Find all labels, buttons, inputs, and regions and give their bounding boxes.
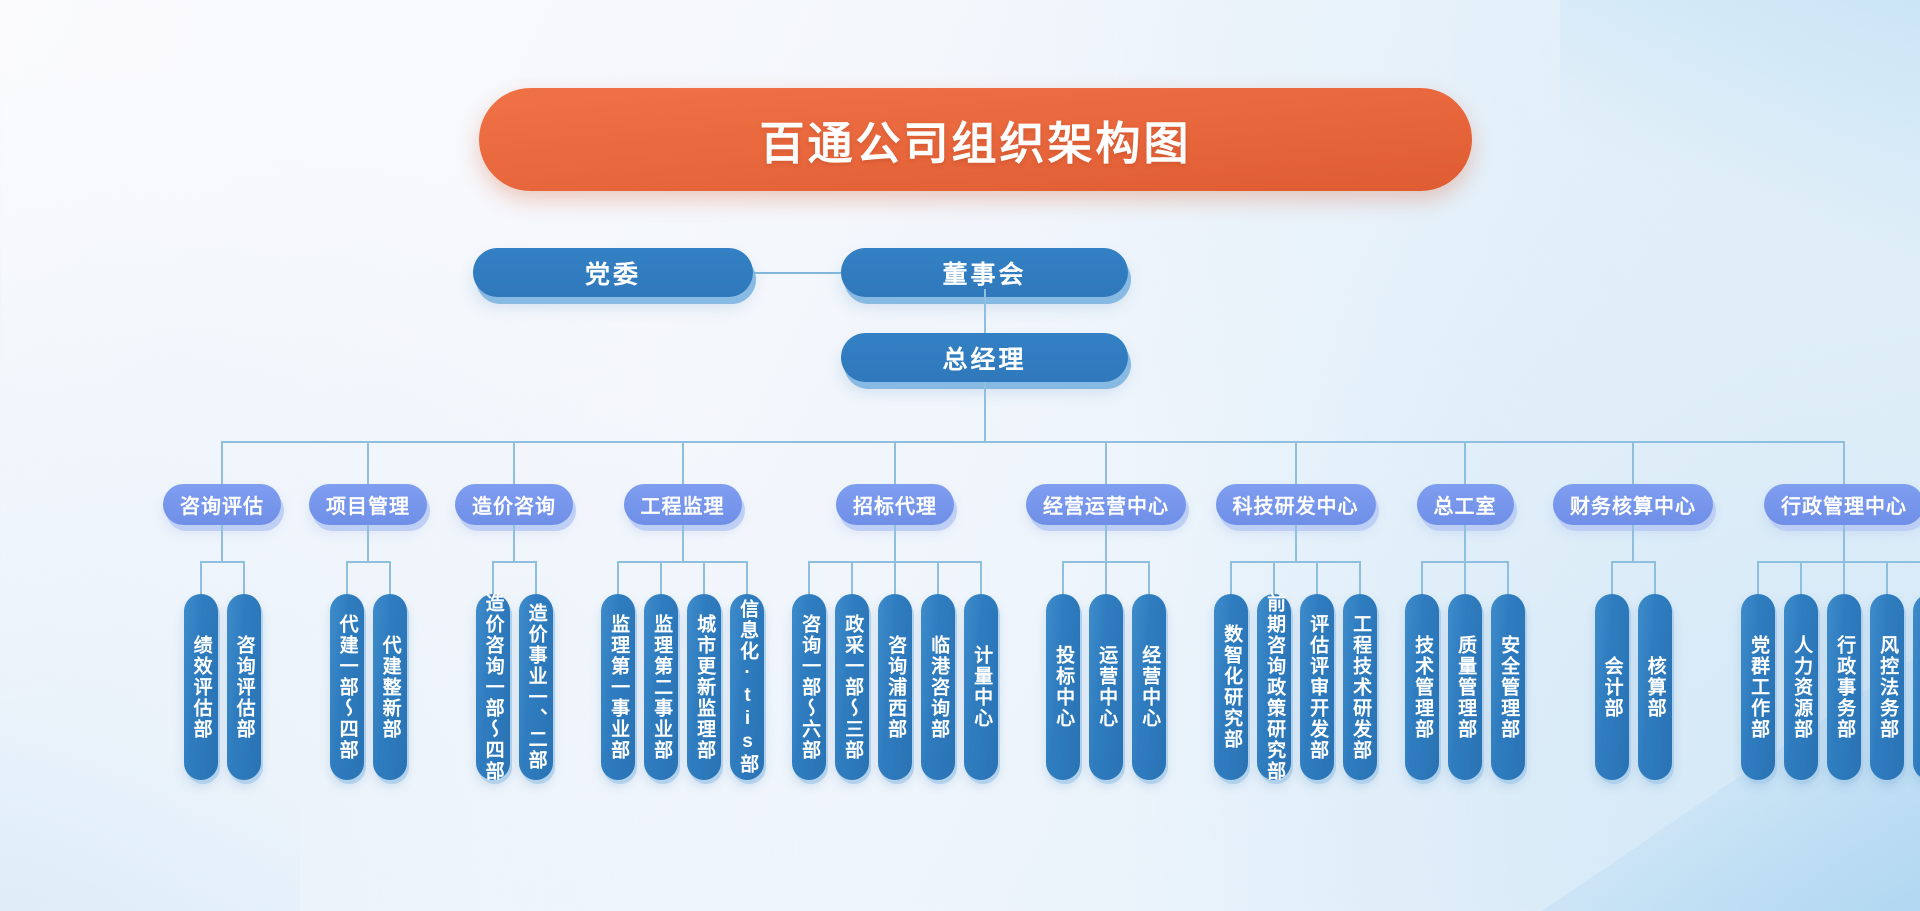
leaf-node-8-2[interactable]: 质量管理部 bbox=[1448, 594, 1482, 780]
connector-leaf-7-1 bbox=[1230, 561, 1232, 594]
connector-division-5-stem bbox=[894, 525, 896, 561]
node-general-manager[interactable]: 总经理 bbox=[841, 333, 1128, 382]
leaf-node-8-1[interactable]: 技术管理部 bbox=[1405, 594, 1439, 780]
node-label: 代建整新部 bbox=[379, 635, 399, 740]
leaf-node-1-2[interactable]: 咨询评估部 bbox=[227, 594, 261, 780]
node-label: 党群工作部 bbox=[1748, 635, 1768, 740]
division-node-8[interactable]: 总工室 bbox=[1417, 484, 1514, 525]
node-label: 咨询评估部 bbox=[233, 635, 253, 740]
node-label: 工程技术研发部 bbox=[1350, 614, 1370, 761]
node-label: 行政事务部 bbox=[1834, 635, 1854, 740]
connector-trunk-to-division-6 bbox=[1105, 441, 1107, 484]
leaf-node-8-3[interactable]: 安全管理部 bbox=[1491, 594, 1525, 780]
node-label: 运营中心 bbox=[1096, 645, 1116, 729]
connector-subbus-2 bbox=[347, 561, 390, 563]
chart-title-banner: 百通公司组织架构图 bbox=[479, 88, 1472, 191]
connector-leaf-7-2 bbox=[1273, 561, 1275, 594]
connector-trunk-to-division-7 bbox=[1295, 441, 1297, 484]
connector-trunk-to-division-1 bbox=[221, 441, 223, 484]
connector-division-2-stem bbox=[367, 525, 369, 561]
connector-subbus-6 bbox=[1063, 561, 1149, 563]
node-label: 党委 bbox=[585, 255, 641, 291]
connector-division-4-stem bbox=[682, 525, 684, 561]
leaf-node-10-1[interactable]: 党群工作部 bbox=[1741, 594, 1775, 780]
connector-gm-to-trunk bbox=[984, 382, 986, 442]
node-label: 经营中心 bbox=[1139, 645, 1159, 729]
node-label: 代建一部～四部 bbox=[336, 614, 356, 761]
leaf-node-7-2[interactable]: 前期咨询政策研究部 bbox=[1257, 594, 1291, 780]
node-party-committee[interactable]: 党委 bbox=[473, 248, 753, 297]
connector-division-6-stem bbox=[1105, 525, 1107, 561]
connector-leaf-4-1 bbox=[617, 561, 619, 594]
leaf-node-4-1[interactable]: 监理第一事业部 bbox=[601, 594, 635, 780]
connector-subbus-10 bbox=[1758, 561, 1920, 563]
connector-division-1-stem bbox=[221, 525, 223, 561]
leaf-node-10-5[interactable]: 数字化信息部 bbox=[1913, 594, 1920, 780]
node-label: 信息化·tis部 bbox=[737, 599, 757, 775]
division-node-5[interactable]: 招标代理 bbox=[836, 484, 954, 525]
leaf-node-10-3[interactable]: 行政事务部 bbox=[1827, 594, 1861, 780]
node-label: 监理第二事业部 bbox=[651, 614, 671, 761]
connector-leaf-1-1 bbox=[200, 561, 202, 594]
leaf-node-1-1[interactable]: 绩效评估部 bbox=[184, 594, 218, 780]
connector-leaf-10-3 bbox=[1843, 561, 1845, 594]
node-label: 核算部 bbox=[1644, 656, 1664, 719]
connector-leaf-5-1 bbox=[808, 561, 810, 594]
connector-subbus-7 bbox=[1231, 561, 1360, 563]
connector-leaf-2-1 bbox=[346, 561, 348, 594]
node-label: 总经理 bbox=[942, 340, 1026, 376]
connector-leaf-1-2 bbox=[243, 561, 245, 594]
leaf-node-5-2[interactable]: 政采一部～三部 bbox=[835, 594, 869, 780]
node-label: 科技研发中心 bbox=[1233, 490, 1359, 519]
node-label: 数智化研究部 bbox=[1221, 624, 1241, 750]
connector-leaf-3-1 bbox=[492, 561, 494, 594]
node-label: 造价事业一、二部 bbox=[525, 603, 545, 771]
leaf-node-9-2[interactable]: 核算部 bbox=[1638, 594, 1672, 780]
connector-leaf-10-2 bbox=[1800, 561, 1802, 594]
node-label: 工程监理 bbox=[641, 490, 725, 519]
node-label: 人力资源部 bbox=[1791, 635, 1811, 740]
connector-division-3-stem bbox=[513, 525, 515, 561]
connector-leaf-2-2 bbox=[389, 561, 391, 594]
leaf-node-10-4[interactable]: 风控法务部 bbox=[1870, 594, 1904, 780]
node-label: 造价咨询 bbox=[472, 490, 556, 519]
connector-leaf-4-4 bbox=[746, 561, 748, 594]
node-label: 技术管理部 bbox=[1412, 635, 1432, 740]
connector-party-to-board bbox=[753, 272, 841, 274]
connector-leaf-8-2 bbox=[1464, 561, 1466, 594]
connector-division-8-stem bbox=[1464, 525, 1466, 561]
node-label: 咨询浦西部 bbox=[885, 635, 905, 740]
connector-subbus-1 bbox=[201, 561, 244, 563]
leaf-node-5-1[interactable]: 咨询一部～六部 bbox=[792, 594, 826, 780]
connector-leaf-8-1 bbox=[1421, 561, 1423, 594]
connector-leaf-10-4 bbox=[1886, 561, 1888, 594]
connector-subbus-4 bbox=[618, 561, 747, 563]
connector-subbus-5 bbox=[809, 561, 981, 563]
division-node-1[interactable]: 咨询评估 bbox=[163, 484, 281, 525]
node-label: 临港咨询部 bbox=[928, 635, 948, 740]
leaf-node-4-2[interactable]: 监理第二事业部 bbox=[644, 594, 678, 780]
connector-board-to-gm bbox=[984, 289, 986, 333]
connector-leaf-3-2 bbox=[535, 561, 537, 594]
node-label: 经营运营中心 bbox=[1043, 490, 1169, 519]
org-chart-canvas: 百通公司组织架构图 党委 董事会 总经理 咨询评估绩效评估部咨询评估部项目管理代… bbox=[0, 0, 1920, 911]
leaf-node-5-4[interactable]: 临港咨询部 bbox=[921, 594, 955, 780]
connector-division-bus bbox=[222, 441, 1844, 443]
connector-leaf-9-1 bbox=[1611, 561, 1613, 594]
node-label: 咨询一部～六部 bbox=[799, 614, 819, 761]
node-label: 风控法务部 bbox=[1877, 635, 1897, 740]
division-node-2[interactable]: 项目管理 bbox=[309, 484, 427, 525]
node-label: 政采一部～三部 bbox=[842, 614, 862, 761]
leaf-node-2-2[interactable]: 代建整新部 bbox=[373, 594, 407, 780]
connector-leaf-5-5 bbox=[980, 561, 982, 594]
node-label: 行政管理中心 bbox=[1781, 490, 1907, 519]
node-label: 城市更新监理部 bbox=[694, 614, 714, 761]
connector-leaf-7-3 bbox=[1316, 561, 1318, 594]
connector-leaf-5-2 bbox=[851, 561, 853, 594]
leaf-node-5-5[interactable]: 计量中心 bbox=[964, 594, 998, 780]
leaf-node-4-3[interactable]: 城市更新监理部 bbox=[687, 594, 721, 780]
connector-leaf-5-4 bbox=[937, 561, 939, 594]
connector-leaf-10-1 bbox=[1757, 561, 1759, 594]
node-label: 总工室 bbox=[1434, 490, 1497, 519]
division-node-9[interactable]: 财务核算中心 bbox=[1553, 484, 1713, 525]
connector-leaf-5-3 bbox=[894, 561, 896, 594]
node-label: 董事会 bbox=[942, 255, 1026, 291]
background-decoration-top-right bbox=[1560, 0, 1920, 300]
division-node-10[interactable]: 行政管理中心 bbox=[1764, 484, 1920, 525]
leaf-node-7-3[interactable]: 评估评审开发部 bbox=[1300, 594, 1334, 780]
connector-trunk-to-division-8 bbox=[1464, 441, 1466, 484]
leaf-node-2-1[interactable]: 代建一部～四部 bbox=[330, 594, 364, 780]
node-label: 监理第一事业部 bbox=[608, 614, 628, 761]
connector-trunk-to-division-9 bbox=[1632, 441, 1634, 484]
connector-leaf-7-4 bbox=[1359, 561, 1361, 594]
connector-trunk-to-division-5 bbox=[894, 441, 896, 484]
division-node-7[interactable]: 科技研发中心 bbox=[1216, 484, 1376, 525]
connector-trunk-to-division-10 bbox=[1843, 441, 1845, 484]
page-title: 百通公司组织架构图 bbox=[759, 107, 1191, 172]
connector-leaf-6-2 bbox=[1105, 561, 1107, 594]
leaf-node-6-3[interactable]: 经营中心 bbox=[1132, 594, 1166, 780]
node-label: 投标中心 bbox=[1053, 645, 1073, 729]
connector-leaf-8-3 bbox=[1507, 561, 1509, 594]
node-label: 财务核算中心 bbox=[1570, 490, 1696, 519]
connector-division-9-stem bbox=[1632, 525, 1634, 561]
connector-leaf-4-2 bbox=[660, 561, 662, 594]
connector-trunk-to-division-3 bbox=[513, 441, 515, 484]
connector-leaf-6-1 bbox=[1062, 561, 1064, 594]
leaf-node-10-2[interactable]: 人力资源部 bbox=[1784, 594, 1818, 780]
connector-leaf-9-2 bbox=[1654, 561, 1656, 594]
division-node-3[interactable]: 造价咨询 bbox=[455, 484, 573, 525]
connector-trunk-to-division-2 bbox=[367, 441, 369, 484]
leaf-node-7-4[interactable]: 工程技术研发部 bbox=[1343, 594, 1377, 780]
node-label: 前期咨询政策研究部 bbox=[1264, 593, 1284, 782]
leaf-node-5-3[interactable]: 咨询浦西部 bbox=[878, 594, 912, 780]
node-label: 计量中心 bbox=[971, 645, 991, 729]
leaf-node-9-1[interactable]: 会计部 bbox=[1595, 594, 1629, 780]
division-node-4[interactable]: 工程监理 bbox=[624, 484, 742, 525]
node-label: 造价咨询一部～四部 bbox=[482, 593, 502, 782]
node-label: 招标代理 bbox=[853, 490, 937, 519]
node-label: 咨询评估 bbox=[180, 490, 264, 519]
node-label: 评估评审开发部 bbox=[1307, 614, 1327, 761]
connector-division-10-stem bbox=[1843, 525, 1845, 561]
leaf-node-4-4[interactable]: 信息化·tis部 bbox=[730, 594, 764, 780]
connector-subbus-9 bbox=[1612, 561, 1655, 563]
node-label: 会计部 bbox=[1601, 656, 1621, 719]
leaf-node-7-1[interactable]: 数智化研究部 bbox=[1214, 594, 1248, 780]
connector-leaf-4-3 bbox=[703, 561, 705, 594]
leaf-node-6-1[interactable]: 投标中心 bbox=[1046, 594, 1080, 780]
leaf-node-3-2[interactable]: 造价事业一、二部 bbox=[519, 594, 553, 780]
connector-subbus-3 bbox=[493, 561, 536, 563]
division-node-6[interactable]: 经营运营中心 bbox=[1026, 484, 1186, 525]
node-label: 项目管理 bbox=[326, 490, 410, 519]
leaf-node-6-2[interactable]: 运营中心 bbox=[1089, 594, 1123, 780]
node-label: 质量管理部 bbox=[1455, 635, 1475, 740]
connector-division-7-stem bbox=[1295, 525, 1297, 561]
node-label: 安全管理部 bbox=[1498, 635, 1518, 740]
node-label: 绩效评估部 bbox=[190, 635, 210, 740]
connector-trunk-to-division-4 bbox=[682, 441, 684, 484]
leaf-node-3-1[interactable]: 造价咨询一部～四部 bbox=[476, 594, 510, 780]
connector-subbus-8 bbox=[1422, 561, 1508, 563]
connector-leaf-6-3 bbox=[1148, 561, 1150, 594]
